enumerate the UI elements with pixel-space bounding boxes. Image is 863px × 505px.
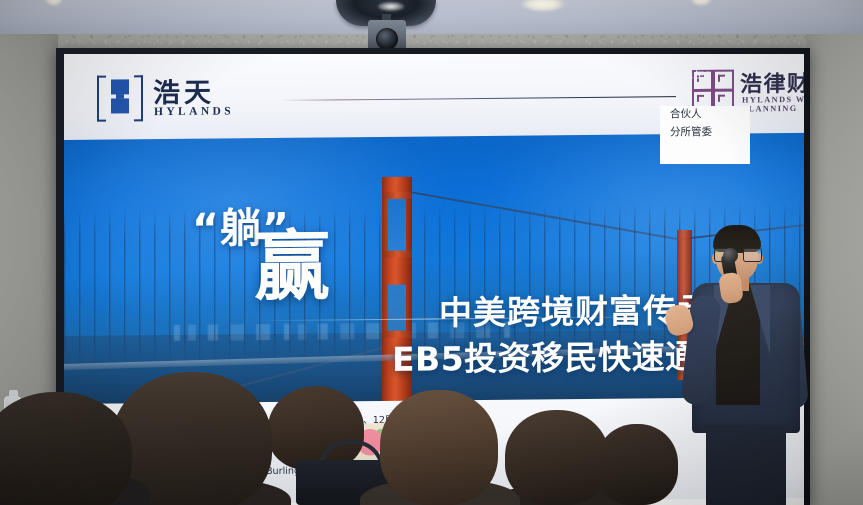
hylands-bracket-logo-icon <box>97 75 143 117</box>
logo-square-top <box>111 79 129 94</box>
presenter-figure <box>672 215 822 505</box>
header-divider <box>280 96 676 101</box>
blazer-lapel-right <box>750 285 770 355</box>
bracket-right <box>134 75 143 121</box>
speaker-role-line-2: 分所管委 <box>660 124 750 142</box>
logo-square-bottom <box>111 98 129 113</box>
tower-crossbeam <box>382 192 412 199</box>
glasses-lens-right <box>743 248 762 262</box>
tower-opening <box>388 285 406 331</box>
camera-glint <box>378 2 404 11</box>
tower-crossbeam <box>382 251 412 258</box>
fret-quadrant <box>713 70 734 91</box>
attendee-head <box>380 390 498 505</box>
bracket-left <box>97 76 106 122</box>
wealth-logo-english: HYLANDS WEALTH PLANNING <box>742 94 804 113</box>
hylands-logo: 浩天 HYLANDS <box>97 70 272 132</box>
speaker-title-card: 合伙人 分所管委 <box>660 106 750 164</box>
hylands-logo-chinese: 浩天 <box>153 71 215 111</box>
speaker-role-line-1: 合伙人 <box>660 106 750 124</box>
logo-connector-bar <box>116 94 124 98</box>
wealth-logo-chinese: 浩律财富 <box>740 66 804 99</box>
presenter-hand-holding-mic <box>718 272 744 305</box>
conference-photo-scene: 浩天 HYLANDS 浩律财富 HYLANDS WEALTH PLANNING <box>0 0 863 505</box>
hero-bigword: 赢 <box>254 231 330 302</box>
attendee-head <box>505 410 609 505</box>
presenter-trousers <box>706 425 786 505</box>
hylands-logo-english: HYLANDS <box>154 105 234 118</box>
event-date-text: 2023年1 <box>664 68 712 84</box>
camera-lens <box>376 28 398 50</box>
tower-opening <box>388 199 406 251</box>
